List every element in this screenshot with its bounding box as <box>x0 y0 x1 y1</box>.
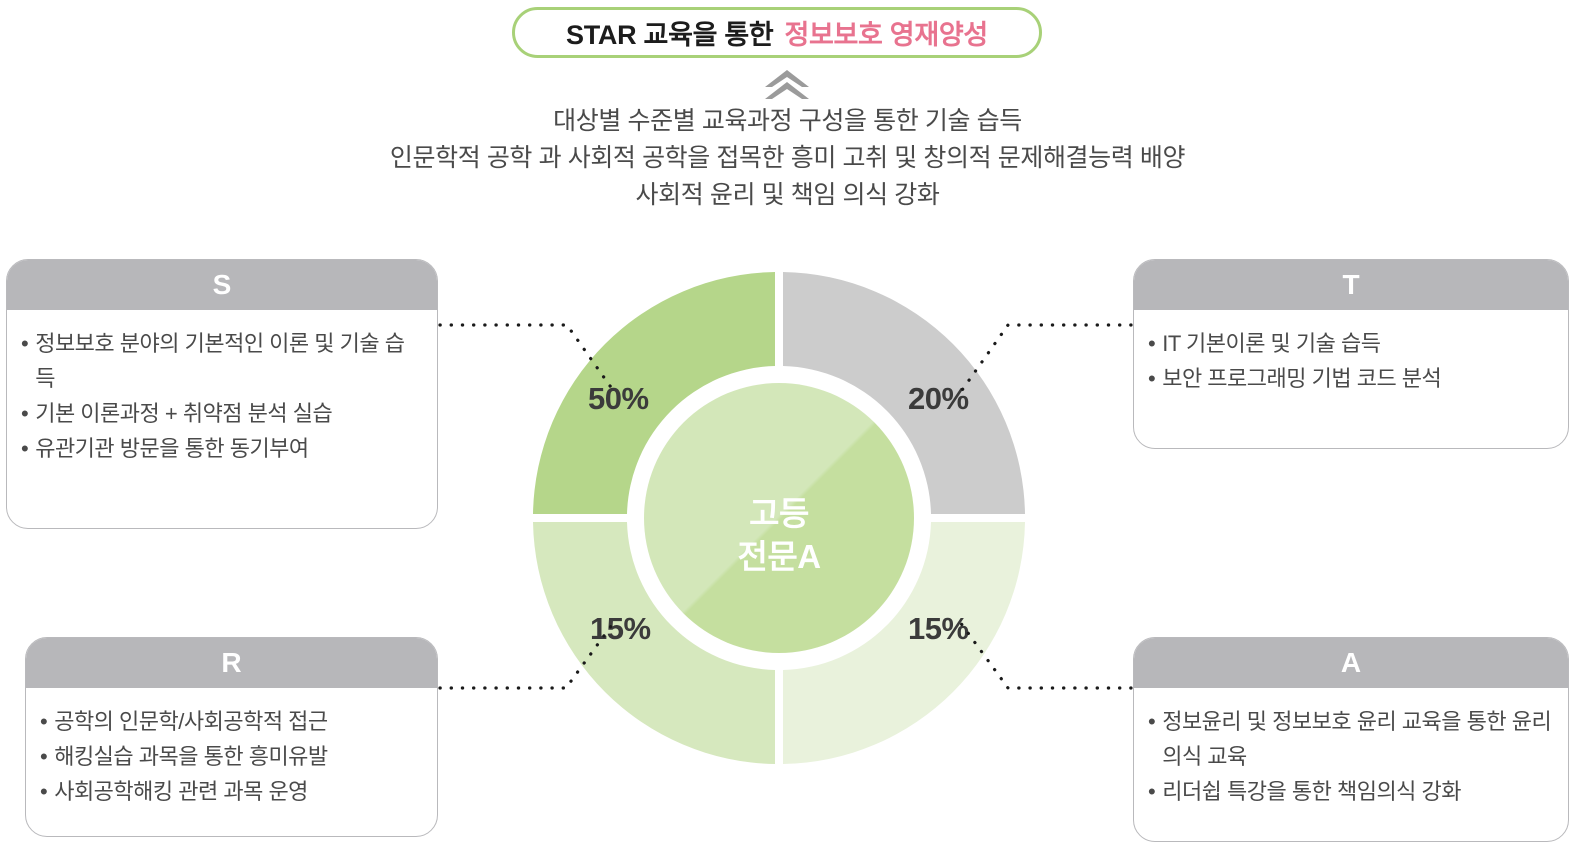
subtitle-line-1: 대상별 수준별 교육과정 구성을 통한 기술 습득 <box>0 103 1575 140</box>
bullet-icon: • <box>1148 774 1155 809</box>
card-t-bullet-2: 보안 프로그래밍 기법 코드 분석 <box>1162 361 1552 396</box>
card-s-bullet-3: 유관기관 방문을 통한 동기부여 <box>35 431 421 466</box>
card-t-body: • IT 기본이론 및 기술 습득 • 보안 프로그래밍 기법 코드 분석 <box>1134 312 1568 408</box>
card-t-header: T <box>1134 260 1568 312</box>
card-r-bullet-3: 사회공학해킹 관련 과목 운영 <box>54 774 421 809</box>
card-r-bullet-1: 공학의 인문학/사회공학적 접근 <box>54 704 421 739</box>
donut-label-t: 20% <box>908 381 969 417</box>
card-t-letter: T <box>1342 269 1359 301</box>
card-s-body: • 정보보호 분야의 기본적인 이론 및 기술 습득 • 기본 이론과정 + 취… <box>7 312 437 478</box>
card-r-letter: R <box>221 647 241 679</box>
list-item: • 유관기관 방문을 통한 동기부여 <box>21 431 421 466</box>
card-s[interactable]: S • 정보보호 분야의 기본적인 이론 및 기술 습득 • 기본 이론과정 +… <box>6 259 438 529</box>
title-main-text: STAR 교육을 통한 <box>566 13 773 52</box>
card-t-bullet-1: IT 기본이론 및 기술 습득 <box>1162 326 1552 361</box>
bullet-icon: • <box>40 704 47 739</box>
donut-label-a: 15% <box>908 611 969 647</box>
list-item: • 보안 프로그래밍 기법 코드 분석 <box>1148 361 1552 396</box>
subtitle-block: 대상별 수준별 교육과정 구성을 통한 기술 습득 인문학적 공학 과 사회적 … <box>0 103 1575 214</box>
donut-chart <box>533 272 1025 764</box>
card-a-bullet-2: 리더쉽 특강을 통한 책임의식 강화 <box>1162 774 1552 809</box>
card-a-header: A <box>1134 638 1568 690</box>
list-item: • 공학의 인문학/사회공학적 접근 <box>40 704 421 739</box>
double-chevron-up-icon <box>762 68 812 100</box>
subtitle-line-3: 사회적 윤리 및 책임 의식 강화 <box>0 177 1575 214</box>
card-r[interactable]: R • 공학의 인문학/사회공학적 접근 • 해킹실습 과목을 통한 흥미유발 … <box>25 637 438 837</box>
bullet-icon: • <box>40 739 47 774</box>
diagram-title-pill: STAR 교육을 통한 정보보호 영재양성 <box>512 7 1042 58</box>
card-r-header: R <box>26 638 437 690</box>
card-s-header: S <box>7 260 437 312</box>
title-accent-text: 정보보호 영재양성 <box>784 13 988 52</box>
card-s-letter: S <box>213 269 232 301</box>
card-a[interactable]: A • 정보윤리 및 정보보호 윤리 교육을 통한 윤리의식 교육 • 리더쉽 … <box>1133 637 1569 842</box>
list-item: • 사회공학해킹 관련 과목 운영 <box>40 774 421 809</box>
card-s-bullet-2: 기본 이론과정 + 취약점 분석 실습 <box>35 396 421 431</box>
list-item: • 정보윤리 및 정보보호 윤리 교육을 통한 윤리의식 교육 <box>1148 704 1552 774</box>
bullet-icon: • <box>1148 361 1155 396</box>
diagram-canvas: STAR 교육을 통한 정보보호 영재양성 대상별 수준별 교육과정 구성을 통… <box>0 0 1575 859</box>
bullet-icon: • <box>1148 704 1155 739</box>
list-item: • 기본 이론과정 + 취약점 분석 실습 <box>21 396 421 431</box>
list-item: • 해킹실습 과목을 통한 흥미유발 <box>40 739 421 774</box>
donut-label-r: 15% <box>590 611 651 647</box>
card-s-bullet-1: 정보보호 분야의 기본적인 이론 및 기술 습득 <box>35 326 421 396</box>
card-r-bullet-2: 해킹실습 과목을 통한 흥미유발 <box>54 739 421 774</box>
list-item: • 리더쉽 특강을 통한 책임의식 강화 <box>1148 774 1552 809</box>
list-item: • 정보보호 분야의 기본적인 이론 및 기술 습득 <box>21 326 421 396</box>
bullet-icon: • <box>1148 326 1155 361</box>
subtitle-line-2: 인문학적 공학 과 사회적 공학을 접목한 흥미 고취 및 창의적 문제해결능력… <box>0 140 1575 177</box>
card-a-letter: A <box>1341 647 1361 679</box>
donut-label-s: 50% <box>588 381 649 417</box>
donut-center-circle <box>644 383 914 653</box>
bullet-icon: • <box>40 774 47 809</box>
bullet-icon: • <box>21 326 28 361</box>
bullet-icon: • <box>21 396 28 431</box>
card-r-body: • 공학의 인문학/사회공학적 접근 • 해킹실습 과목을 통한 흥미유발 • … <box>26 690 437 821</box>
card-a-bullet-1: 정보윤리 및 정보보호 윤리 교육을 통한 윤리의식 교육 <box>1162 704 1552 774</box>
card-a-body: • 정보윤리 및 정보보호 윤리 교육을 통한 윤리의식 교육 • 리더쉽 특강… <box>1134 690 1568 821</box>
card-t[interactable]: T • IT 기본이론 및 기술 습득 • 보안 프로그래밍 기법 코드 분석 <box>1133 259 1569 449</box>
bullet-icon: • <box>21 431 28 466</box>
list-item: • IT 기본이론 및 기술 습득 <box>1148 326 1552 361</box>
